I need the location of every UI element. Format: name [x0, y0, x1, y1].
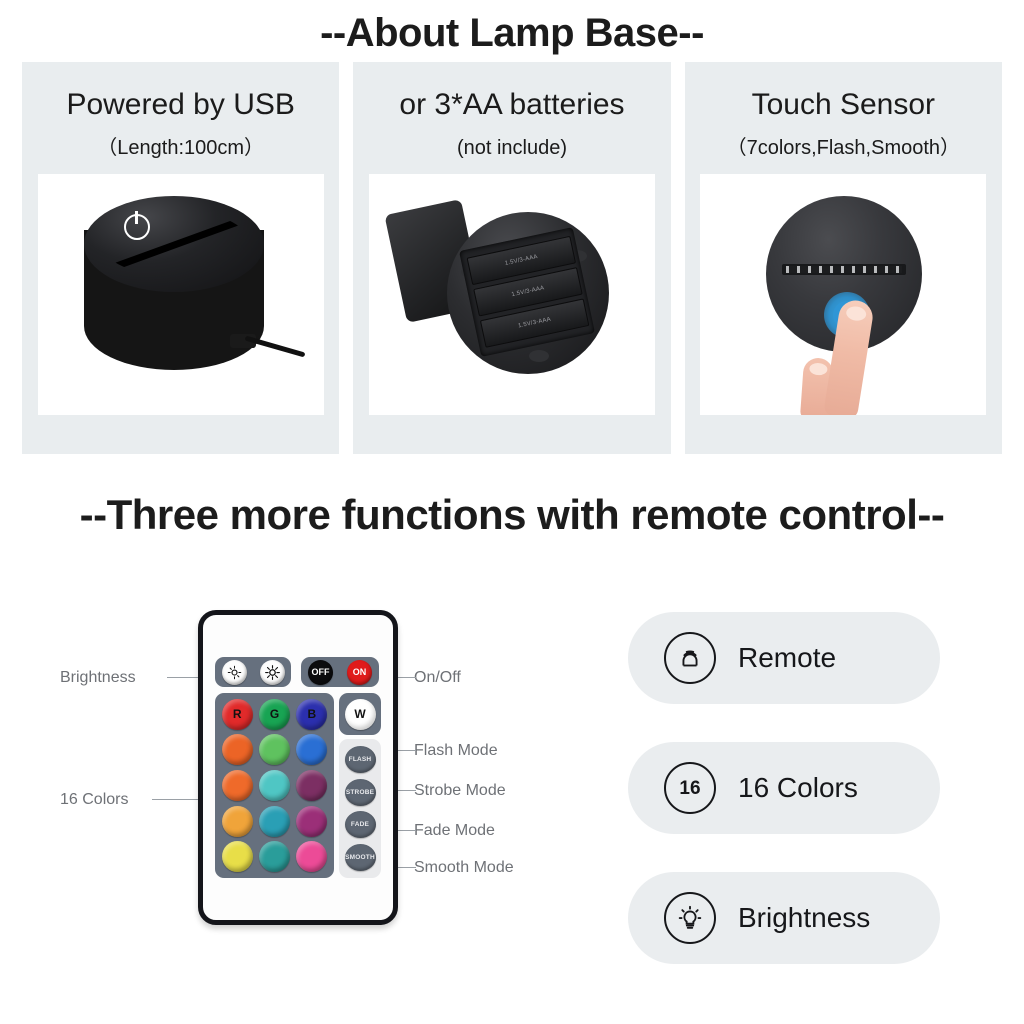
panel-powered-by-usb: Powered by USB （Length:100cm） — [22, 62, 339, 454]
panel-title: or 3*AA batteries — [399, 90, 624, 120]
color-button-blue-2[interactable] — [296, 734, 327, 765]
remote-signal-icon — [664, 632, 716, 684]
callout-smooth-mode: Smooth Mode — [414, 860, 514, 876]
white-keypad: W — [339, 693, 381, 735]
color-button-purple-1[interactable] — [296, 770, 327, 801]
dim-sun-icon — [227, 665, 242, 680]
color-button-red[interactable]: R — [222, 699, 253, 730]
bright-sun-icon — [265, 665, 280, 680]
color-button-green[interactable]: G — [259, 699, 290, 730]
feature-label: Brightness — [738, 902, 870, 934]
power-keypad: OFF ON — [301, 657, 379, 687]
panel-touch-sensor: Touch Sensor （7colors,Flash,Smooth） — [685, 62, 1002, 454]
color-button-orange-1[interactable] — [222, 734, 253, 765]
panel-title: Powered by USB — [66, 90, 294, 120]
color-keypad: R G B — [215, 693, 334, 878]
remote-control[interactable]: OFF ON R G B W FLASH STROB — [198, 610, 398, 925]
panel-subtitle: (not include) — [457, 138, 567, 158]
led-strip — [782, 264, 906, 275]
lamp-base-top-surface — [84, 196, 264, 292]
lamp-base-panels: Powered by USB （Length:100cm） or 3*AA ba… — [22, 62, 1002, 454]
panel-aa-batteries: or 3*AA batteries (not include) 1.5V/3-A… — [353, 62, 670, 454]
lightbulb-icon — [664, 892, 716, 944]
color-button-yellow[interactable] — [222, 841, 253, 872]
feature-label: 16 Colors — [738, 772, 858, 804]
smooth-mode-button[interactable]: SMOOTH — [345, 844, 376, 871]
callout-flash-mode: Flash Mode — [414, 743, 498, 759]
color-button-teal-1[interactable] — [259, 806, 290, 837]
lightbulb-glyph — [675, 903, 705, 933]
color-button-blue[interactable]: B — [296, 699, 327, 730]
panel-subtitle: （7colors,Flash,Smooth） — [727, 138, 960, 158]
callout-strobe-mode: Strobe Mode — [414, 783, 506, 799]
mode-keypad: FLASH STROBE FADE SMOOTH — [339, 739, 381, 878]
color-button-teal-2[interactable] — [259, 841, 290, 872]
panel-subtitle: （Length:100cm） — [97, 138, 264, 158]
callout-fade-mode: Fade Mode — [414, 823, 495, 839]
page-title-about-lamp-base: --About Lamp Base-- — [0, 0, 1024, 53]
color-button-purple-2[interactable] — [296, 806, 327, 837]
off-button[interactable]: OFF — [308, 660, 333, 685]
lamp-base-usb-photo — [38, 174, 324, 415]
sixteen-circle-icon: 16 — [664, 762, 716, 814]
power-symbol-icon — [124, 214, 150, 240]
remote-control-diagram: Brightness 16 Colors On/Off Flash Mode S… — [0, 600, 620, 960]
brightness-down-button[interactable] — [222, 660, 247, 685]
color-button-cyan[interactable] — [259, 770, 290, 801]
feature-pill-16-colors[interactable]: 16 16 Colors — [628, 742, 940, 834]
panel-title: Touch Sensor — [752, 90, 935, 120]
feature-pill-remote[interactable]: Remote — [628, 612, 940, 704]
color-button-lightgreen[interactable] — [259, 734, 290, 765]
page-title-three-more-functions: --Three more functions with remote contr… — [0, 494, 1024, 536]
rubber-foot — [529, 350, 549, 362]
feature-pill-list: Remote 16 16 Colors Brightness — [628, 612, 940, 964]
callout-brightness: Brightness — [60, 670, 136, 686]
on-button[interactable]: ON — [347, 660, 372, 685]
feature-pill-brightness[interactable]: Brightness — [628, 872, 940, 964]
sixteen-badge-text: 16 — [679, 779, 700, 798]
feature-label: Remote — [738, 642, 836, 674]
brightness-up-button[interactable] — [260, 660, 285, 685]
remote-signal-glyph — [675, 643, 705, 673]
white-button[interactable]: W — [345, 699, 376, 730]
flash-mode-button[interactable]: FLASH — [345, 746, 376, 773]
color-button-orange-2[interactable] — [222, 770, 253, 801]
callout-16-colors: 16 Colors — [60, 792, 128, 808]
fade-mode-button[interactable]: FADE — [345, 811, 376, 838]
brightness-keypad — [215, 657, 291, 687]
lamp-base-battery-photo: 1.5V/3-AAA 1.5V/3-AAA 1.5V/3-AAA — [369, 174, 655, 415]
callout-on-off: On/Off — [414, 670, 461, 686]
color-button-pink[interactable] — [296, 841, 327, 872]
color-button-amber[interactable] — [222, 806, 253, 837]
strobe-mode-button[interactable]: STROBE — [345, 779, 376, 806]
leader-line — [152, 799, 204, 800]
lamp-base-touch-photo — [700, 174, 986, 415]
